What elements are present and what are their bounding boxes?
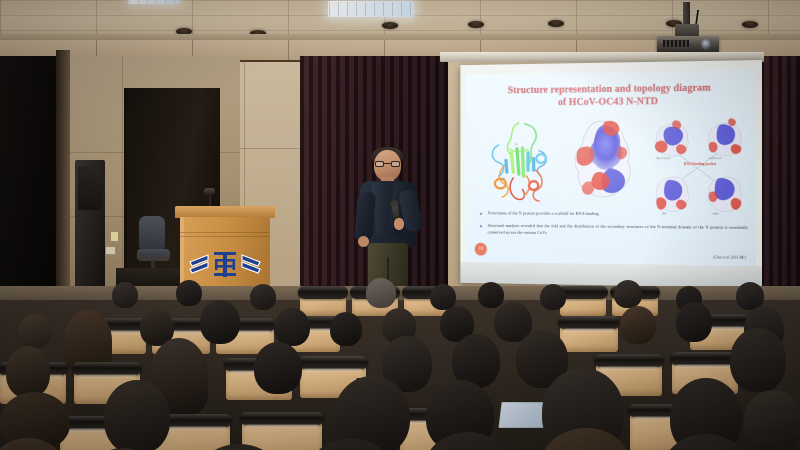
fluorescent-light-panel: [128, 0, 180, 4]
audience-member: [620, 306, 656, 344]
audience-member: [540, 284, 566, 310]
loudspeaker: [75, 160, 105, 290]
recessed-downlight: [742, 21, 758, 28]
lecture-hall-scene: Structure representation and topology di…: [0, 0, 800, 450]
stage-curtain-right: [760, 56, 800, 290]
seat[interactable]: [560, 292, 606, 316]
svg-text:β5: β5: [502, 177, 505, 181]
fluorescent-light-panel: [328, 1, 414, 17]
audience-member: [104, 380, 170, 450]
audience-member: [330, 312, 362, 346]
slide-figures: β1 β3 β5: [466, 116, 756, 208]
audience-member: [676, 302, 712, 342]
audience-member: [308, 438, 394, 450]
room-background: Structure representation and topology di…: [0, 0, 800, 450]
projector-body: [657, 36, 719, 53]
wall-sign: [111, 232, 118, 241]
audience-member: [540, 428, 632, 450]
audience-area: [0, 272, 800, 450]
slide-title-line-2: of HCoV-OC43 N-NTD: [466, 94, 756, 110]
slide-bullet-list: ➤ N-terminus of the N protein provides a…: [478, 210, 748, 245]
bullet-text: Structural analysis revealed that the fo…: [488, 223, 748, 234]
audience-member: [196, 444, 282, 450]
recessed-downlight: [548, 20, 564, 27]
seat[interactable]: [560, 322, 618, 352]
ribbon-diagram-svg: β1 β3 β5: [482, 120, 561, 205]
presentation-slide: Structure representation and topology di…: [466, 70, 756, 266]
rna-binding-pocket-label: RNA binding pocket: [670, 162, 730, 166]
projection-screen: Structure representation and topology di…: [460, 60, 762, 288]
slide-citation: (Chen et al. 2013 JBC): [713, 255, 746, 259]
audience-member: [274, 308, 310, 346]
svg-text:β1: β1: [515, 142, 518, 146]
audience-member: [18, 314, 52, 348]
podium-mic-stand: [209, 193, 211, 207]
wall-socket-plate[interactable]: [105, 246, 116, 255]
audience-member: [614, 280, 642, 308]
dark-alcove: [0, 56, 62, 290]
recessed-downlight: [382, 22, 398, 29]
projector-lens: [701, 39, 712, 50]
svg-text:β3: β3: [528, 156, 531, 160]
bullet-item: ➤ N-terminus of the N protein provides a…: [478, 210, 748, 218]
bullet-item: ➤ Structural analysis revealed that the …: [478, 223, 748, 238]
electrostatic-surface-figure: [569, 117, 639, 207]
bullet-marker-icon: ➤: [479, 224, 483, 230]
bullet-marker-icon: ➤: [479, 211, 483, 217]
audience-member: [250, 284, 276, 310]
surface-potential-svg: [569, 117, 639, 207]
slide-number-badge: 10: [475, 243, 487, 256]
bullet-text: N-terminus of the N protein provides a s…: [488, 210, 599, 216]
podium-microphone-icon: [204, 188, 215, 195]
audience-member: [366, 278, 396, 308]
slide-title: Structure representation and topology di…: [466, 81, 756, 110]
audience-member: [254, 342, 302, 394]
audience-member: [112, 282, 138, 308]
audience-member: [176, 280, 202, 306]
figure-caption: SARS-CoV: [709, 157, 722, 160]
presenter-right-hand: [394, 218, 404, 230]
door-frame: [56, 50, 70, 290]
quad-surface-figure: RNA binding pocket HCoV-OC43 SARS-CoV IB…: [649, 116, 750, 216]
recessed-downlight: [468, 21, 484, 28]
audience-member: [424, 432, 512, 450]
glasses-icon: [375, 161, 400, 167]
projector-mount-pole: [683, 2, 690, 26]
figure-caption: HCoV-OC43: [656, 157, 670, 160]
audience-member: [0, 438, 66, 450]
audience-member: [6, 346, 50, 398]
audience-member: [662, 434, 750, 450]
ribbon-topology-figure: β1 β3 β5: [482, 120, 561, 205]
slide-title-line-1: Structure representation and topology di…: [508, 83, 711, 96]
audience-member: [744, 390, 800, 450]
ceiling-projector: [655, 14, 721, 56]
